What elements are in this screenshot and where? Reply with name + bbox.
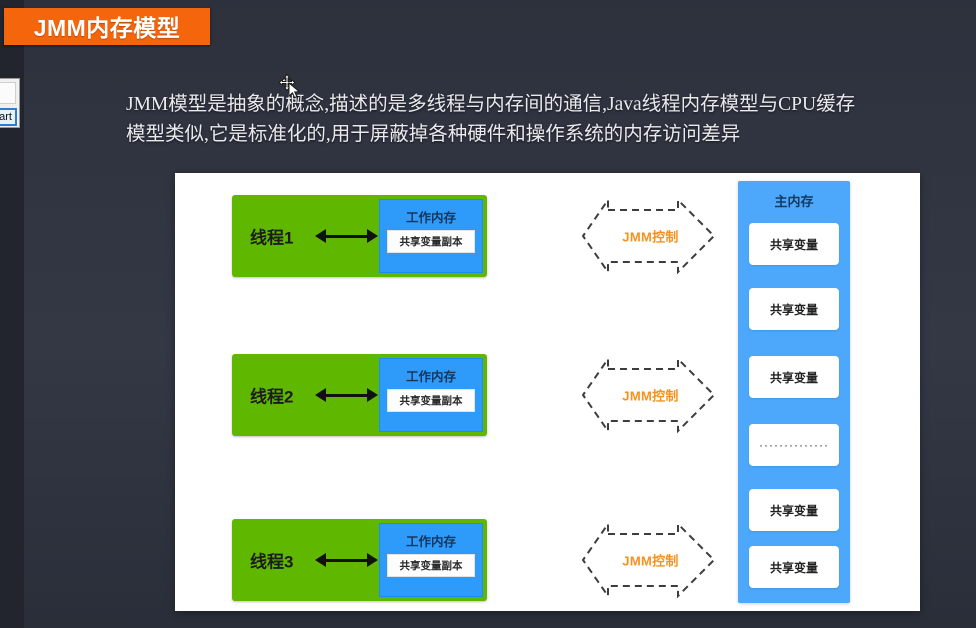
edge-dialog-body [0, 82, 16, 104]
shared-variable-label: 共享变量 [770, 301, 818, 318]
slide-title-text: JMM内存模型 [34, 9, 181, 43]
lead-line-1: JMM模型是抽象的概念,描述的是多线程与内存间的通信,Java线程内存模型与CP… [126, 90, 956, 120]
diagram-panel: 线程1 工作内存 共享变量副本 JMM控制 线程2 工作内存 [175, 173, 920, 611]
lead-paragraph: JMM模型是抽象的概念,描述的是多线程与内存间的通信,Java线程内存模型与CP… [126, 90, 956, 150]
shared-variable-cell: 共享变量 [749, 288, 839, 330]
shared-variable-copy-label: 共享变量副本 [400, 393, 463, 408]
mouse-cursor [278, 74, 304, 100]
shared-variable-copy-label: 共享变量副本 [400, 558, 463, 573]
thread-label: 线程2 [250, 383, 293, 408]
work-memory-title: 工作内存 [380, 207, 482, 226]
edge-dialog[interactable]: tart [0, 78, 20, 128]
thread-label: 线程3 [250, 548, 293, 573]
jmm-control-label: JMM控制 [578, 227, 723, 246]
thread-block: 线程1 工作内存 共享变量副本 [232, 195, 487, 277]
bidirectional-arrow-icon [315, 553, 378, 567]
slide-title-badge: JMM内存模型 [4, 8, 210, 45]
shared-variable-cell: 共享变量 [749, 356, 839, 398]
work-memory-box: 工作内存 共享变量副本 [379, 358, 483, 432]
shared-variable-cell: 共享变量 [749, 489, 839, 531]
thread-block: 线程2 工作内存 共享变量副本 [232, 354, 487, 436]
thread-row: 线程2 工作内存 共享变量副本 [232, 354, 487, 436]
start-button[interactable]: tart [0, 108, 17, 126]
shared-variable-label: 共享变量 [770, 559, 818, 576]
shared-variable-label: 共享变量 [770, 369, 818, 386]
shared-variable-copy-box: 共享变量副本 [387, 554, 475, 577]
shared-variable-copy-box: 共享变量副本 [387, 389, 475, 412]
bidirectional-arrow-icon [315, 388, 378, 402]
main-memory-title: 主内存 [738, 181, 850, 210]
shared-variable-cell: 共享变量 [749, 546, 839, 588]
shared-variable-label: 共享变量 [770, 502, 818, 519]
thread-row: 线程3 工作内存 共享变量副本 [232, 519, 487, 601]
thread-row: 线程1 工作内存 共享变量副本 [232, 195, 487, 277]
jmm-control-arrow: JMM控制 [578, 196, 723, 276]
work-memory-box: 工作内存 共享变量副本 [379, 523, 483, 597]
ellipsis-cell: ·············· [749, 424, 839, 466]
thread-block: 线程3 工作内存 共享变量副本 [232, 519, 487, 601]
shared-variable-copy-label: 共享变量副本 [400, 234, 463, 249]
move-cursor-icon [278, 74, 304, 100]
jmm-control-label: JMM控制 [578, 551, 723, 570]
shared-variable-copy-box: 共享变量副本 [387, 230, 475, 253]
ellipsis-label: ·············· [759, 438, 829, 452]
shared-variable-label: 共享变量 [770, 236, 818, 253]
work-memory-box: 工作内存 共享变量副本 [379, 199, 483, 273]
start-button-label: tart [0, 111, 12, 123]
work-memory-title: 工作内存 [380, 531, 482, 550]
thread-label: 线程1 [250, 224, 293, 249]
bidirectional-arrow-icon [315, 229, 378, 243]
jmm-control-arrow: JMM控制 [578, 355, 723, 435]
main-memory-column: 主内存 共享变量 共享变量 共享变量 ·············· 共享变量 共… [738, 181, 850, 603]
lead-line-2: 模型类似,它是标准化的,用于屏蔽掉各种硬件和操作系统的内存访问差异 [126, 120, 956, 150]
work-memory-title: 工作内存 [380, 366, 482, 385]
shared-variable-cell: 共享变量 [749, 223, 839, 265]
jmm-control-arrow: JMM控制 [578, 520, 723, 600]
jmm-control-label: JMM控制 [578, 386, 723, 405]
